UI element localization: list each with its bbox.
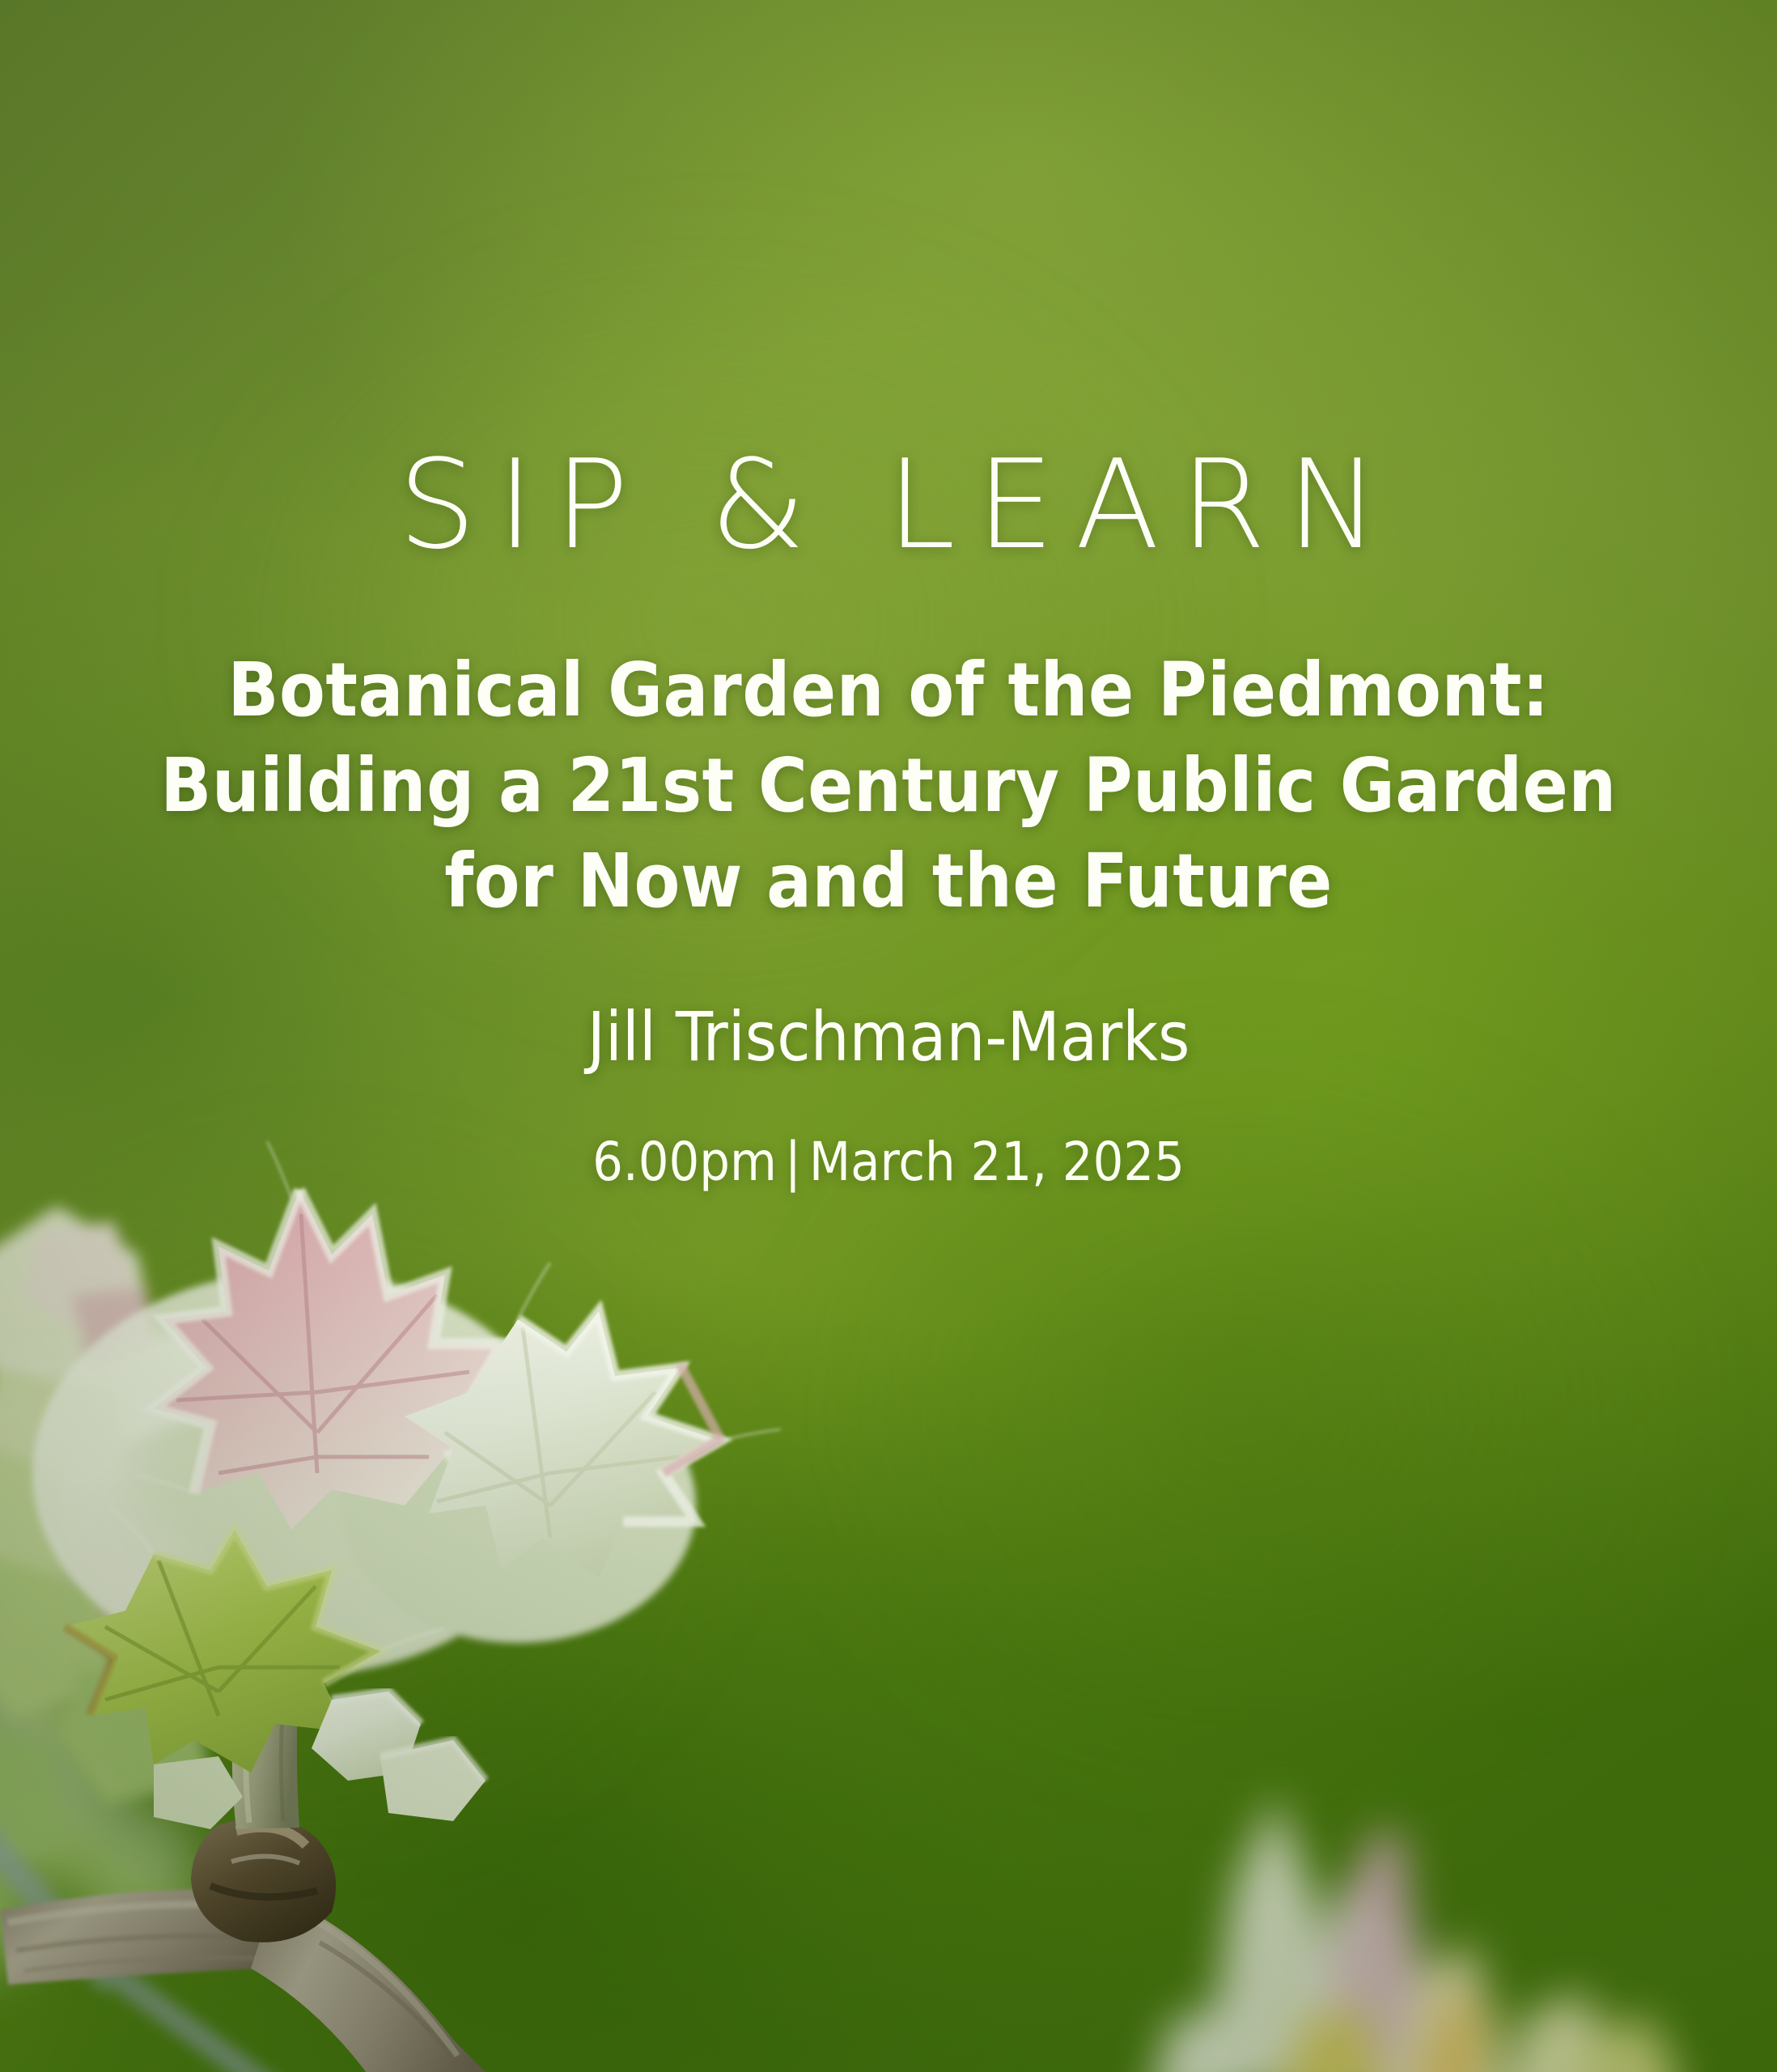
event-time: 6.00pm xyxy=(592,1131,777,1193)
page-title: SIP & LEARN xyxy=(0,0,1777,567)
event-poster: SIP & LEARN Botanical Garden of the Pied… xyxy=(0,0,1777,2072)
subtitle-line-3: for Now and the Future xyxy=(57,834,1720,929)
subtitle-line-2: Building a 21st Century Public Garden xyxy=(57,738,1720,834)
datetime-separator: | xyxy=(777,1131,809,1193)
event-datetime: 6.00pm|March 21, 2025 xyxy=(0,1075,1777,1192)
subtitle-line-1: Botanical Garden of the Piedmont: xyxy=(57,643,1720,738)
poster-text-block: SIP & LEARN Botanical Garden of the Pied… xyxy=(0,0,1777,1191)
event-date: March 21, 2025 xyxy=(809,1131,1185,1193)
speaker-name: Jill Trischman-Marks xyxy=(0,928,1777,1074)
event-subtitle: Botanical Garden of the Piedmont: Buildi… xyxy=(0,567,1777,928)
